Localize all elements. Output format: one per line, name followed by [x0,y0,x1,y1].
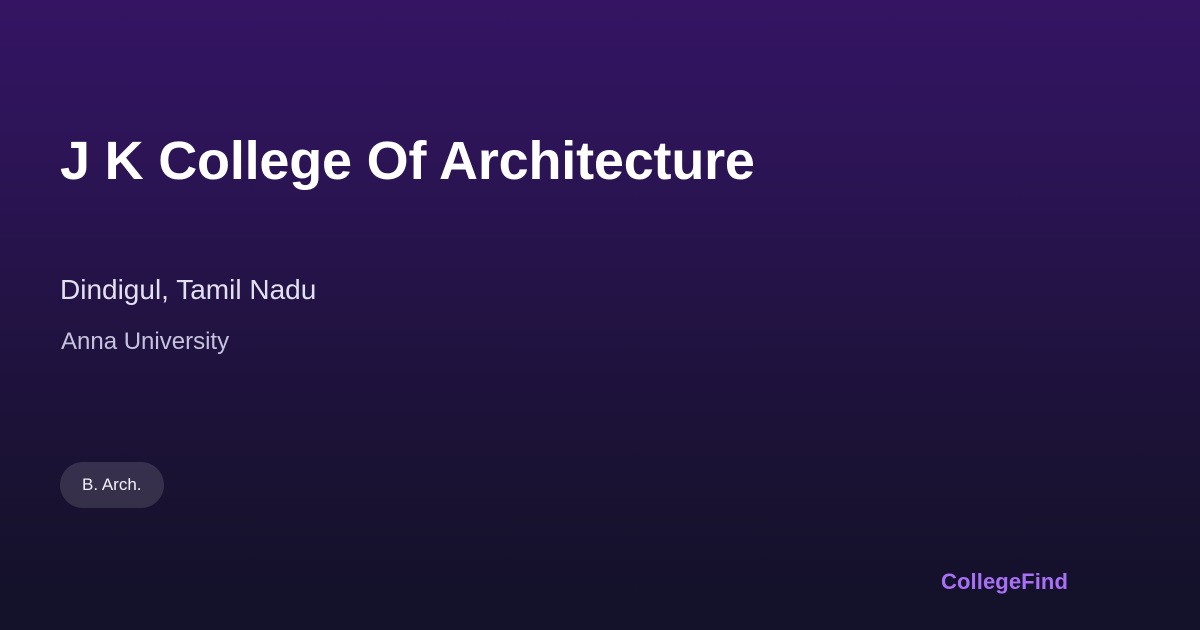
college-name-title: J K College Of Architecture [60,128,755,194]
college-share-card: J K College Of Architecture Dindigul, Ta… [0,0,1200,630]
course-badge-list: B. Arch. [60,462,164,508]
course-badge-b-arch: B. Arch. [60,462,164,508]
card-content: J K College Of Architecture Dindigul, Ta… [60,0,1140,630]
brand-wordmark: CollegeFind [941,568,1068,596]
college-location-text: Dindigul, Tamil Nadu [60,272,316,308]
college-affiliation-text: Anna University [61,326,229,358]
